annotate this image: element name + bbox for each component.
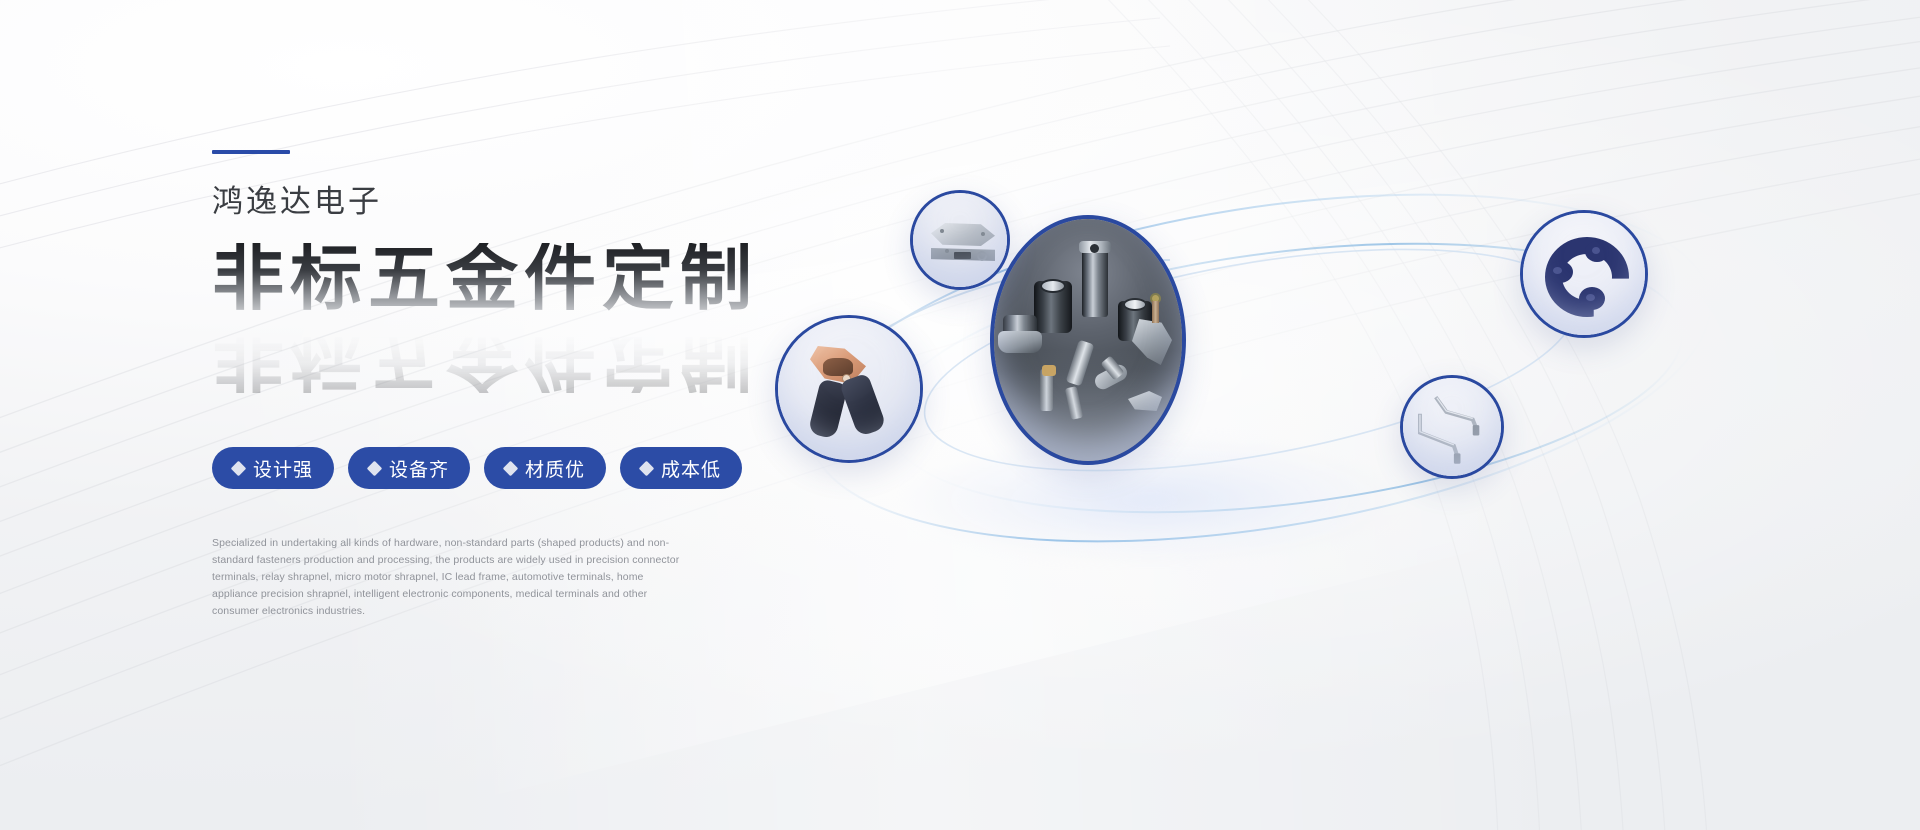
feature-tag-label: 设计强 — [253, 455, 313, 482]
feature-tag-cost[interactable]: 成本低 — [620, 447, 742, 489]
clamp-jaw-shadow — [823, 358, 853, 376]
hero-description: Specialized in undertaking all kinds of … — [212, 535, 682, 620]
showcase-item-machined-metal-parts[interactable] — [990, 215, 1186, 465]
part-cylinder-tall — [1082, 247, 1108, 317]
enclosure-screw-3 — [945, 249, 949, 253]
showcase-item-blue-retaining-ring[interactable] — [1520, 210, 1648, 338]
part-socket-rim — [1040, 279, 1066, 293]
diamond-icon — [367, 460, 383, 476]
feature-tag-label: 成本低 — [661, 455, 721, 482]
terminal-tip-upper — [1473, 425, 1480, 435]
diamond-icon — [639, 460, 655, 476]
retaining-ring-hole-bottom — [1586, 294, 1595, 301]
enclosure-port — [954, 252, 971, 259]
hero-banner: 鸿逸达电子 非标五金件定制 非标五金件定制 设计强 设备齐 材质优 成本低 — [0, 0, 1920, 830]
part-screw-shaft — [1152, 301, 1159, 323]
part-socket-right-rim — [1123, 298, 1147, 311]
enclosure-screw-2 — [981, 232, 985, 236]
terminal-tip-lower — [1454, 453, 1461, 463]
retaining-ring-hole-left — [1553, 267, 1562, 274]
enclosure-screw-1 — [940, 229, 944, 233]
diamond-icon — [231, 460, 247, 476]
diamond-icon — [503, 460, 519, 476]
feature-tag-equipment[interactable]: 设备齐 — [348, 447, 470, 489]
feature-tag-design[interactable]: 设计强 — [212, 447, 334, 489]
showcase-item-copper-battery-clamp[interactable] — [775, 315, 923, 463]
enclosure-grommet — [977, 251, 987, 261]
feature-tag-label: 设备齐 — [389, 455, 449, 482]
terminal-wire-lower — [1420, 416, 1458, 457]
product-showcase — [740, 110, 1890, 630]
part-bore-hole — [1090, 244, 1099, 253]
accent-rule — [212, 150, 290, 154]
part-flange — [998, 331, 1042, 353]
retaining-ring-hole-top — [1592, 247, 1600, 254]
showcase-item-bent-wire-terminals[interactable] — [1400, 375, 1504, 479]
headline-reflection: 非标五金件定制 — [212, 321, 758, 393]
feature-tag-label: 材质优 — [525, 455, 585, 482]
feature-tag-material[interactable]: 材质优 — [484, 447, 606, 489]
plate-reflection — [994, 369, 1182, 461]
showcase-item-sheet-metal-enclosure[interactable] — [910, 190, 1010, 290]
